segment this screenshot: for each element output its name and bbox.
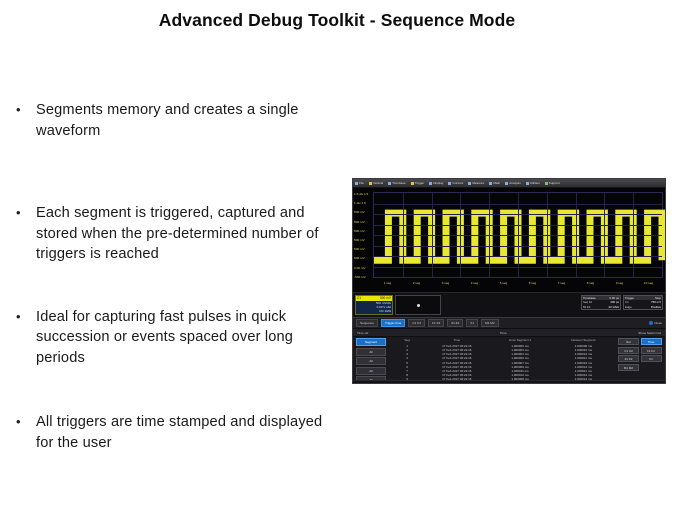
bullet-list: • Segments memory and creates a single w… [14, 100, 346, 499]
x-axis-tick-label: 3 seg [442, 281, 450, 285]
bullet-marker-icon: • [14, 412, 36, 432]
gridline-horizontal [374, 204, 662, 205]
list-item: • Segments memory and creates a single w… [14, 100, 346, 141]
timebase-row-value: 20 GS/s [609, 305, 619, 309]
close-button[interactable]: Close [649, 321, 662, 325]
y-axis-labels: 1.5 div 1.51 div 1.5500 mV500 mV500 mV50… [353, 188, 373, 292]
timebase-icon [388, 182, 391, 185]
y-axis-tick-label: 0.00 mV [354, 266, 366, 270]
info-boxes: Timebase 0.00 ps Seq 10 200 ps 50 kS 20 … [581, 295, 663, 310]
x-axis-labels: 1 seg2 seg3 seg4 seg5 seg6 seg7 seg8 seg… [373, 281, 663, 289]
table-topbar: Time ref Time Show Select Col [353, 329, 665, 337]
gridline-horizontal [374, 267, 662, 268]
tab-trigger-time[interactable]: Trigger time [381, 319, 405, 327]
bullet-marker-icon: • [14, 307, 36, 327]
menu-item-cursors[interactable]: Cursors [448, 181, 463, 186]
channel-descriptor-body: 500 mV/div 0.00 V ofst DC 1MΩ [356, 301, 392, 314]
tab-z1-z2[interactable]: Z1 Z2 [447, 319, 463, 327]
math-icon [489, 182, 492, 185]
bullet-marker-icon: • [14, 203, 36, 223]
keypad-button-time[interactable]: Time [641, 338, 662, 345]
y-axis-tick-label: -500 mV [354, 275, 366, 279]
tab-m1-m2[interactable]: M1 M2 [481, 319, 498, 327]
bullet-text: Ideal for capturing fast pulses in quick… [36, 307, 336, 369]
menu-item-measure[interactable]: Measure [468, 181, 484, 186]
menu-item-label: Display [433, 181, 443, 186]
x-axis-tick-label: 2 seg [413, 281, 421, 285]
menu-item-label: Trigger [415, 181, 425, 186]
trigger-row: Edge Positive [624, 305, 662, 309]
measure-icon [468, 182, 471, 185]
descriptor-row: C1 500 mV 500 mV/div 0.00 V ofst DC 1MΩ … [353, 292, 665, 317]
x-axis-tick-label: 10 seg [644, 281, 653, 285]
menu-item-display[interactable]: Display [429, 181, 443, 186]
menu-item-label: Support [549, 181, 560, 186]
trigger-row-value: Positive [651, 305, 661, 309]
channel-name: C1 [357, 296, 361, 301]
keypad-button-z1-z2[interactable]: Z1 Z2 [618, 355, 639, 362]
timebase-row: 50 kS 20 GS/s [582, 305, 620, 309]
table-header-row: Seg Time since Segment 1 between Segment [389, 338, 615, 342]
list-item: • All triggers are time stamped and disp… [14, 412, 346, 453]
trigger-info-box[interactable]: Trigger Stop C1 750 mV Edge Positive [623, 295, 663, 310]
column-header-seg: Seg [389, 338, 425, 342]
trigger-preview-panel[interactable] [395, 295, 441, 315]
y-axis-tick-label: 1 div 1.5 [354, 201, 366, 205]
column-header-since-segment: since Segment 1 [488, 338, 551, 342]
menu-item-label: File [359, 181, 364, 186]
utilities-icon [526, 182, 529, 185]
menu-item-label: Timebase [392, 181, 405, 186]
menu-item-label: Utilities [530, 181, 540, 186]
column-header-time: Time [425, 338, 488, 342]
table-left-title: Time ref [357, 331, 368, 335]
show-select-col-button[interactable]: Show Select Col [638, 331, 661, 335]
bullet-text: Each segment is triggered, captured and … [36, 203, 336, 265]
menu-item-timebase[interactable]: Timebase [388, 181, 405, 186]
channel-coupling: DC 1MΩ [357, 309, 391, 313]
menu-item-label: Analysis [509, 181, 521, 186]
file-icon [355, 182, 358, 185]
trigger-time-table-panel: Time ref Time Show Select Col SegmentAll… [353, 329, 665, 384]
keypad-button-c1-c2[interactable]: C1 C2 [618, 347, 639, 354]
channel-descriptor-c1[interactable]: C1 500 mV 500 mV/div 0.00 V ofst DC 1MΩ [355, 295, 393, 315]
gridline-horizontal [374, 246, 662, 247]
close-label: Close [654, 321, 662, 325]
x-axis-tick-label: 4 seg [471, 281, 479, 285]
y-axis-tick-label: 500 mV [354, 229, 365, 233]
y-axis-tick-label: 500 mV [354, 238, 365, 242]
gridline-horizontal [374, 225, 662, 226]
waveform-display[interactable]: 1.5 div 1.51 div 1.5500 mV500 mV500 mV50… [353, 188, 665, 292]
segment-button-3[interactable]: All [356, 367, 386, 375]
timebase-info-box[interactable]: Timebase 0.00 ps Seq 10 200 ps 50 kS 20 … [581, 295, 621, 310]
timebase-row-label: 50 kS [583, 305, 590, 309]
analysis-icon [505, 182, 508, 185]
menu-item-file[interactable]: File [355, 181, 364, 186]
graticule [373, 192, 663, 278]
trigger-time-table: Seg Time since Segment 1 between Segment… [389, 338, 615, 384]
x-axis-tick-label: 5 seg [500, 281, 508, 285]
list-item: • Ideal for capturing fast pulses in qui… [14, 307, 346, 369]
menu-item-label: Math [493, 181, 500, 186]
scope-footer: TELEDYNELECROY 2/17/2017 6:22:43 AM [353, 380, 665, 384]
tab-c1-c2[interactable]: C1 C2 [408, 319, 425, 327]
gridline-horizontal [374, 214, 662, 215]
keypad-button-x1[interactable]: X1 [641, 355, 662, 362]
x-axis-tick-label: 6 seg [529, 281, 537, 285]
cursors-icon [448, 182, 451, 185]
list-item: • Each segment is triggered, captured an… [14, 203, 346, 265]
menu-item-label: Vertical [373, 181, 383, 186]
trigger-marker-icon [417, 304, 420, 307]
display-icon [429, 182, 432, 185]
page-title: Advanced Debug Toolkit - Sequence Mode [0, 10, 674, 31]
gridline-horizontal [374, 256, 662, 257]
menu-item-label: Measure [472, 181, 484, 186]
support-icon [545, 182, 548, 185]
tab-x1[interactable]: X1 [466, 319, 478, 327]
keypad-button-rel[interactable]: Rel [618, 338, 639, 345]
y-axis-tick-label: 1.5 div 1.5 [354, 192, 368, 196]
vertical-icon [369, 182, 372, 185]
scope-menubar: FileVerticalTimebaseTriggerDisplayCursor… [353, 179, 665, 188]
segment-button-2[interactable]: All [356, 357, 386, 365]
time-ref-keypad: RelTimeC1 C2F1 F2Z1 Z2X1M1 M2 [618, 338, 662, 371]
keypad-button-m1-m2[interactable]: M1 M2 [618, 364, 639, 371]
x-axis-tick-label: 1 seg [384, 281, 392, 285]
y-axis-tick-label: 500 mV [354, 247, 365, 251]
x-axis-tick-label: 7 seg [558, 281, 566, 285]
close-icon [649, 321, 653, 325]
trigger-row-label: Edge [625, 305, 632, 309]
x-axis-tick-label: 9 seg [616, 281, 624, 285]
bullet-text: Segments memory and creates a single wav… [36, 100, 336, 141]
y-axis-tick-label: 500 mV [354, 220, 365, 224]
keypad-button-f1-f2[interactable]: F1 F2 [641, 347, 662, 354]
trigger-icon [411, 182, 414, 185]
y-axis-tick-label: 500 mV [354, 256, 365, 260]
tab-sequence[interactable]: Sequence [356, 319, 378, 327]
bullet-text: All triggers are time stamped and displa… [36, 412, 336, 453]
segment-button-1[interactable]: All [356, 348, 386, 356]
column-header-between-segment: between Segment [552, 338, 615, 342]
menu-item-utilities[interactable]: Utilities [526, 181, 540, 186]
table-body: 117 Feb 2017 06:22:161.000000 ms1.000000… [389, 344, 615, 384]
menu-item-support[interactable]: Support [545, 181, 560, 186]
y-axis-tick-label: 500 mV [354, 210, 365, 214]
menu-item-label: Cursors [452, 181, 463, 186]
menu-item-analysis[interactable]: Analysis [505, 181, 521, 186]
scope-tab-bar: SequenceTrigger timeC1 C2F1 F2Z1 Z2X1M1 … [353, 317, 665, 329]
menu-item-vertical[interactable]: Vertical [369, 181, 383, 186]
table-center-title: Time [368, 331, 638, 335]
tab-f1-f2[interactable]: F1 F2 [428, 319, 444, 327]
oscilloscope-screenshot: FileVerticalTimebaseTriggerDisplayCursor… [352, 178, 666, 384]
gridline-horizontal [374, 235, 662, 236]
menu-item-trigger[interactable]: Trigger [411, 181, 425, 186]
bullet-marker-icon: • [14, 100, 36, 120]
x-axis-tick-label: 8 seg [587, 281, 595, 285]
brand-logo: TELEDYNELECROY [356, 376, 391, 384]
footer-timestamp: 2/17/2017 6:22:43 AM [634, 383, 662, 384]
menu-item-math[interactable]: Math [489, 181, 500, 186]
segment-button-0[interactable]: Segment [356, 338, 386, 346]
